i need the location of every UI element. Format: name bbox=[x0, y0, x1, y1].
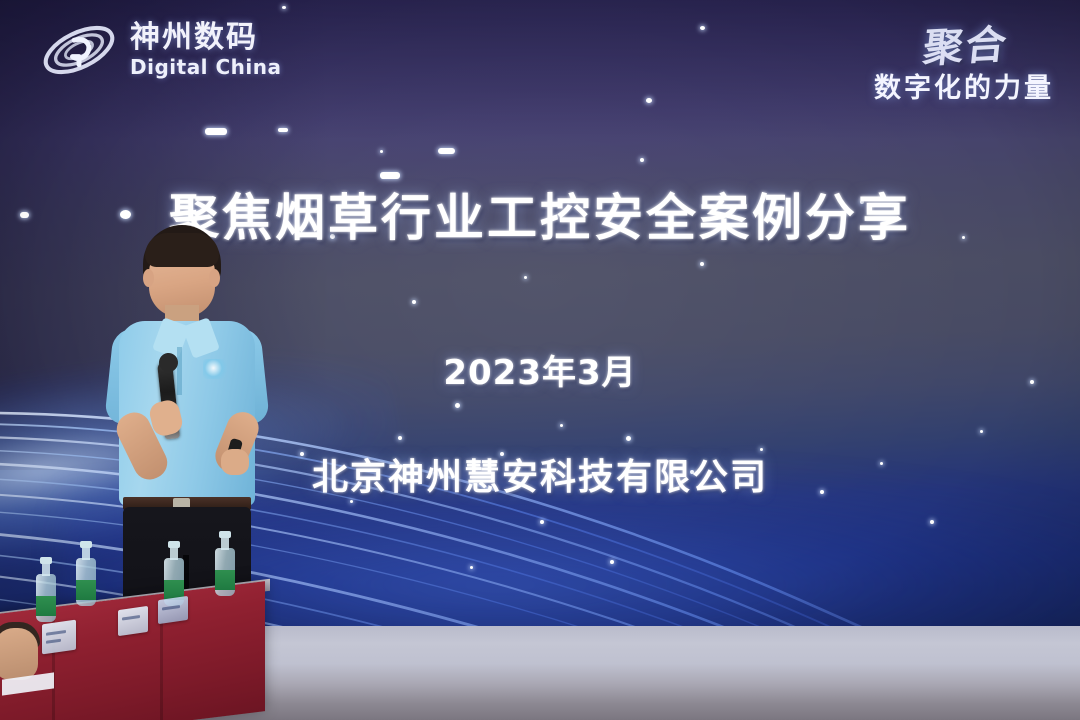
water-bottle bbox=[76, 558, 96, 606]
name-card bbox=[118, 606, 148, 636]
digital-china-logo: 神州数码 Digital China bbox=[38, 14, 282, 86]
event-logo: 聚合 数字化的力量 bbox=[874, 14, 1054, 105]
speaker-hand-right bbox=[221, 449, 249, 475]
brand-name-cn: 神州数码 bbox=[130, 23, 282, 53]
speaker-figure bbox=[95, 225, 285, 625]
speaker-hair-front bbox=[145, 233, 219, 267]
conference-photo: 神州数码 Digital China 聚合 数字化的力量 聚焦烟草行业工控安全案… bbox=[0, 0, 1080, 720]
name-card bbox=[158, 596, 188, 624]
audience-member-head bbox=[0, 628, 38, 680]
speaker-ear-left bbox=[143, 269, 154, 287]
water-bottle bbox=[36, 574, 56, 622]
digital-china-spiral-logo bbox=[38, 14, 120, 86]
name-card bbox=[42, 620, 76, 655]
speaker-chest-logo bbox=[203, 359, 229, 379]
speaker-ear-right bbox=[209, 269, 220, 287]
brand-name-en: Digital China bbox=[130, 57, 282, 77]
event-calligraphy: 聚合 bbox=[921, 12, 1012, 74]
speaker-shirt-placket bbox=[177, 347, 182, 395]
water-bottle bbox=[215, 548, 235, 596]
cloth-fold bbox=[160, 622, 163, 720]
